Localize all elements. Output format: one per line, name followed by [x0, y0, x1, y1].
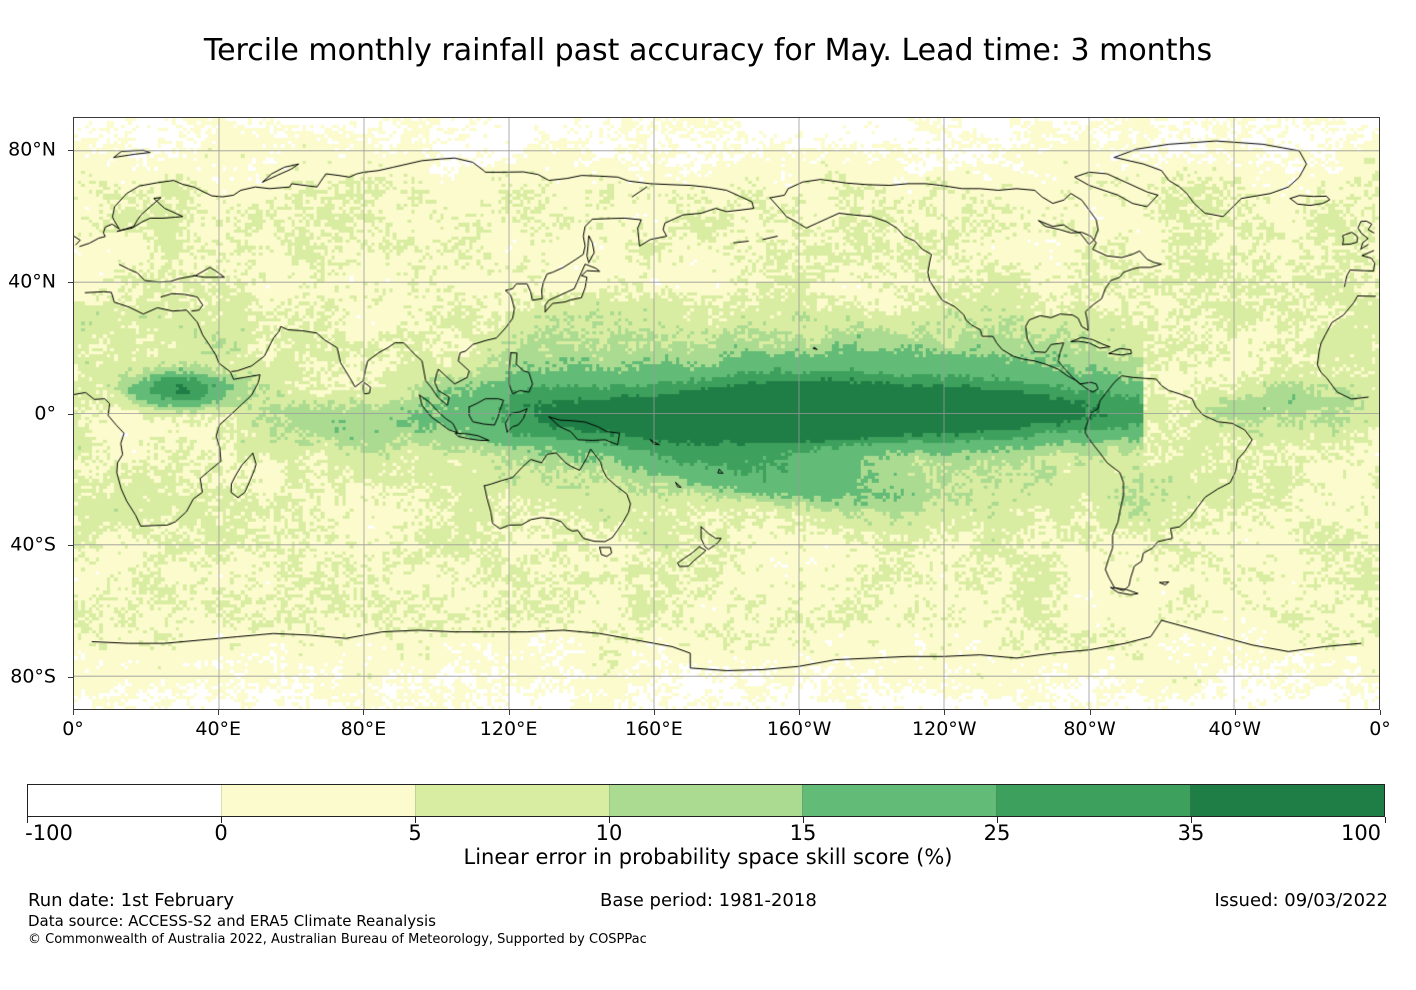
longitude-tickmark [654, 710, 655, 715]
colorbar-tick-label: 0 [214, 821, 227, 846]
latitude-tick-label: 40°N [8, 272, 56, 291]
skill-score-heatmap [74, 118, 1379, 709]
footer: Run date: 1st February Data source: ACCE… [0, 890, 1416, 960]
colorbar-axis-label: Linear error in probability space skill … [0, 845, 1416, 869]
colorbar-tick-label: 25 [984, 821, 1011, 846]
longitude-tickmark [799, 710, 800, 715]
latitude-tickmark [68, 282, 73, 283]
latitude-tickmark [68, 150, 73, 151]
longitude-tick-label: 40°W [1209, 718, 1261, 740]
longitude-tickmark [1090, 710, 1091, 715]
colorbar-tick-label: 35 [1178, 821, 1205, 846]
longitude-tick-label: 160°W [767, 718, 832, 740]
longitude-tick-label: 80°E [341, 718, 387, 740]
latitude-tickmark [68, 677, 73, 678]
colorbar-tick-label: -100 [25, 821, 73, 846]
issued-date-text: Issued: 09/03/2022 [1214, 890, 1388, 912]
colorbar-gradient [27, 784, 1385, 817]
longitude-tickmark [73, 710, 74, 715]
copyright-text: © Commonwealth of Australia 2022, Austra… [28, 931, 647, 948]
colorbar-tick-label: 15 [790, 821, 817, 846]
page-title: Tercile monthly rainfall past accuracy f… [0, 33, 1416, 68]
colorbar-segment [415, 785, 609, 816]
latitude-tick-label: 80°N [8, 140, 56, 159]
longitude-axis: 0°40°E80°E120°E160°E160°W120°W80°W40°W0° [73, 718, 1380, 748]
colorbar-tick-label: 100 [1341, 821, 1381, 846]
longitude-tickmark [218, 710, 219, 715]
latitude-tickmark [68, 545, 73, 546]
latitude-axis: 80°N40°N0°40°S80°S [0, 117, 64, 710]
colorbar[interactable] [27, 784, 1385, 817]
colorbar-segment [996, 785, 1190, 816]
data-source-text: Data source: ACCESS-S2 and ERA5 Climate … [28, 912, 647, 931]
colorbar-segment [1190, 785, 1384, 816]
longitude-tickmark [1235, 710, 1236, 715]
colorbar-tick-label: 10 [596, 821, 623, 846]
latitude-tick-label: 40°S [10, 536, 56, 555]
colorbar-segment [609, 785, 803, 816]
longitude-tick-label: 120°E [480, 718, 538, 740]
longitude-tickmark [1380, 710, 1381, 715]
longitude-tick-label: 0° [62, 718, 84, 740]
longitude-tickmark [509, 710, 510, 715]
longitude-tickmark [363, 710, 364, 715]
longitude-tick-label: 160°E [625, 718, 683, 740]
footer-left-block: Run date: 1st February Data source: ACCE… [28, 890, 647, 948]
longitude-tick-label: 40°E [195, 718, 241, 740]
longitude-tickmark [944, 710, 945, 715]
base-period-text: Base period: 1981-2018 [600, 890, 817, 912]
map-plot-area[interactable] [73, 117, 1380, 710]
colorbar-segment [221, 785, 415, 816]
colorbar-segment [28, 785, 221, 816]
latitude-tick-label: 80°S [10, 668, 56, 687]
latitude-tick-label: 0° [34, 404, 56, 423]
latitude-tickmark [68, 414, 73, 415]
colorbar-segment [802, 785, 996, 816]
run-date-text: Run date: 1st February [28, 890, 647, 912]
longitude-tick-label: 120°W [912, 718, 977, 740]
longitude-tick-label: 80°W [1063, 718, 1115, 740]
longitude-tick-label: 0° [1369, 718, 1391, 740]
colorbar-tick-label: 5 [408, 821, 421, 846]
